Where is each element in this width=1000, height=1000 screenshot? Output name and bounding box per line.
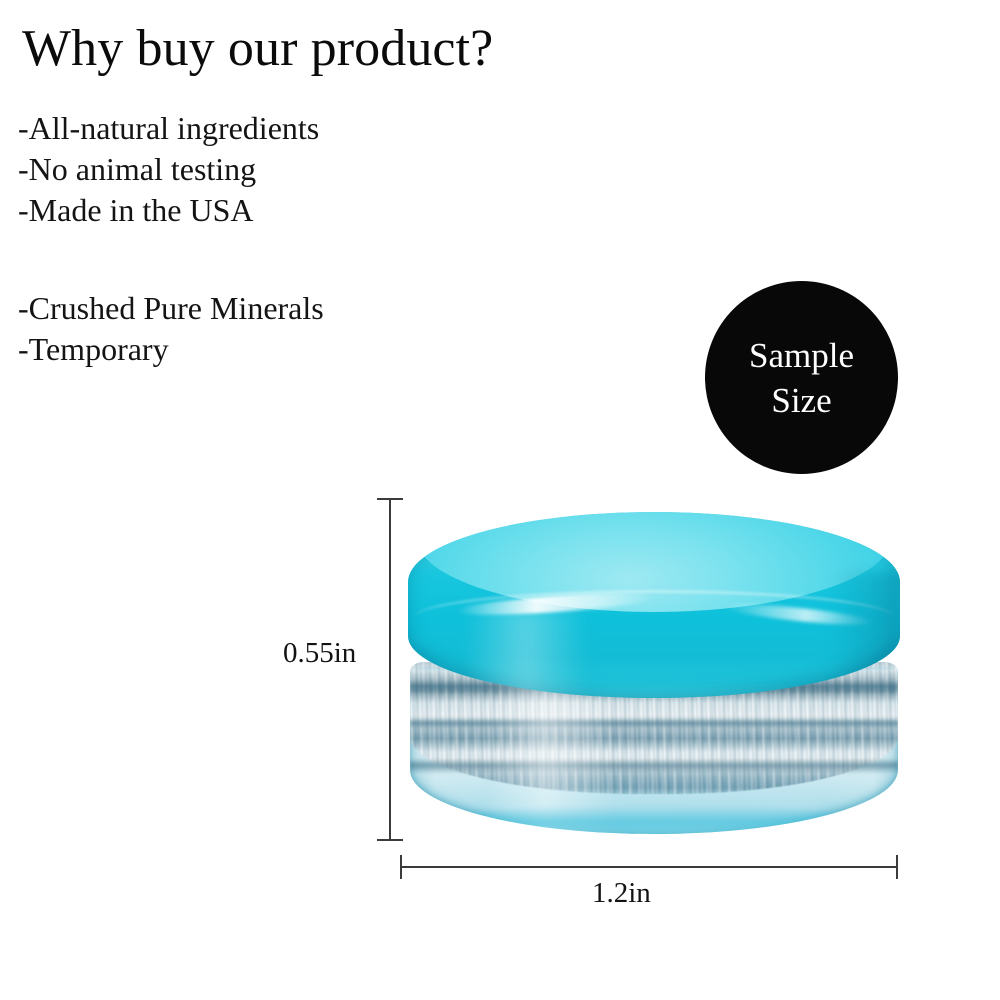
badge-line-1: Sample <box>749 333 854 378</box>
height-dimension-line <box>389 498 391 841</box>
sample-size-badge: Sample Size <box>705 281 898 474</box>
benefit-item: -Crushed Pure Minerals <box>18 288 324 329</box>
base-foot <box>434 806 873 834</box>
product-jar-image <box>408 512 900 834</box>
benefit-item: -No animal testing <box>18 149 319 190</box>
lid-sheen <box>466 608 586 698</box>
page-title: Why buy our product? <box>22 22 493 77</box>
badge-line-2: Size <box>771 378 831 423</box>
lid-edge-shadow <box>830 572 900 698</box>
jar-turquoise-lid <box>408 512 900 698</box>
benefit-item: -Temporary <box>18 329 324 370</box>
width-dimension-line <box>400 866 898 868</box>
infographic-canvas: Why buy our product? -All-natural ingred… <box>0 0 1000 1000</box>
benefit-item: -All-natural ingredients <box>18 108 319 149</box>
powder-streak <box>410 758 898 774</box>
benefit-list-primary: -All-natural ingredients -No animal test… <box>18 108 319 231</box>
height-dimension-label: 0.55in <box>283 637 356 670</box>
powder-streak <box>410 718 898 729</box>
benefit-item: -Made in the USA <box>18 190 319 231</box>
width-dimension-label: 1.2in <box>592 877 651 910</box>
benefit-list-secondary: -Crushed Pure Minerals -Temporary <box>18 288 324 370</box>
